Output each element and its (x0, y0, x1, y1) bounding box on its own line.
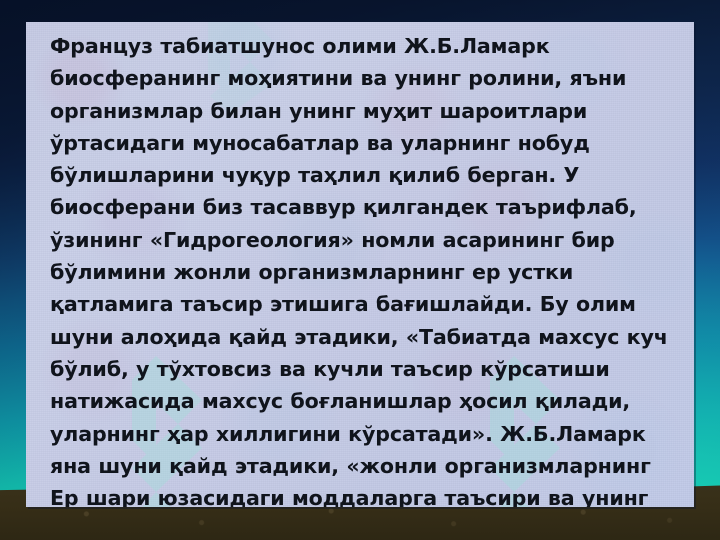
presentation-slide: Француз табиатшунос олими Ж.Б.Ламарк био… (0, 0, 720, 540)
content-panel: Француз табиатшунос олими Ж.Б.Ламарк био… (26, 22, 694, 507)
slide-body-text: Француз табиатшунос олими Ж.Б.Ламарк био… (50, 30, 678, 507)
